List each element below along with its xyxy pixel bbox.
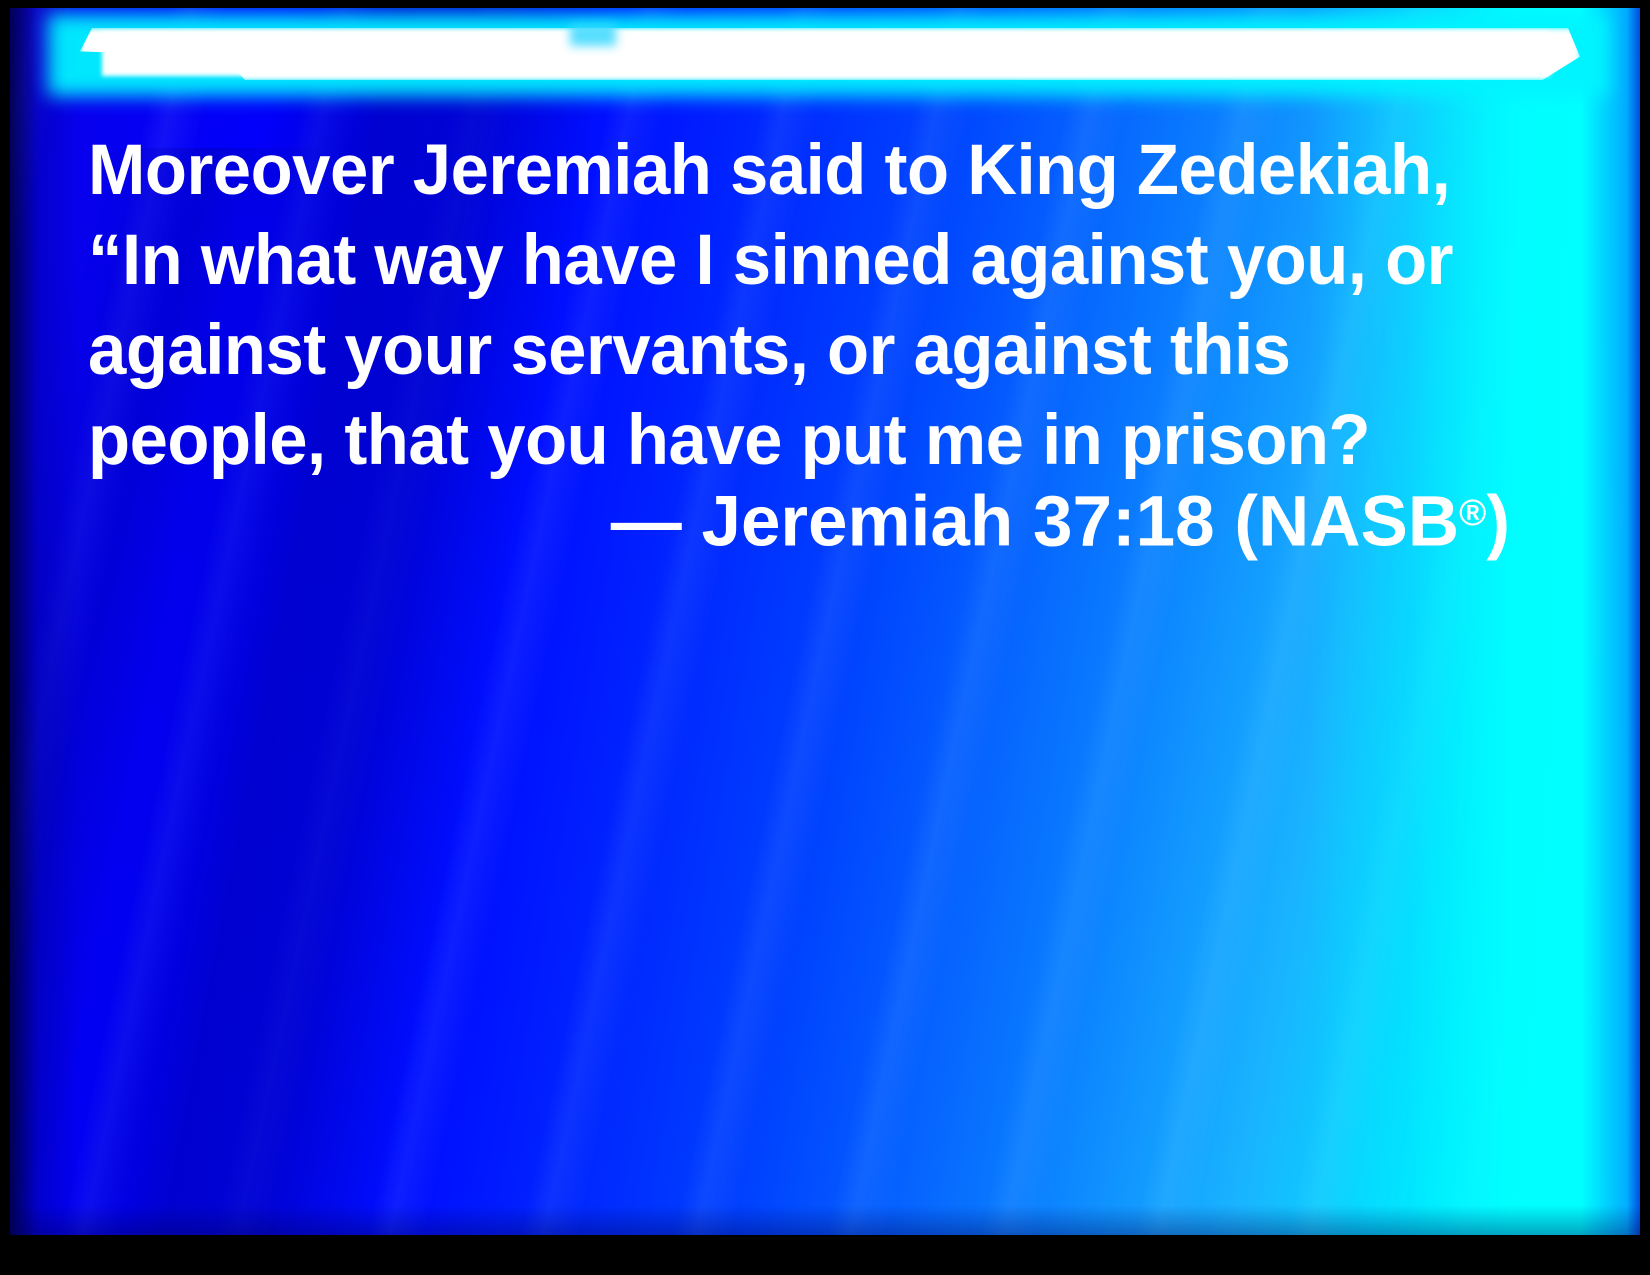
attribution-reference: Jeremiah 37:18 [701,482,1214,561]
verse-line-3: against your servants, or against this [88,306,1465,396]
top-banner-notch [570,24,616,46]
registered-trademark-icon: ® [1459,492,1486,533]
top-banner-white-core [102,32,1550,76]
background-left-edge-shade [10,8,80,1235]
verse-line-1: Moreover Jeremiah said to King Zedekiah, [88,126,1465,216]
slide-panel: Moreover Jeremiah said to King Zedekiah,… [10,8,1640,1235]
slide-canvas: Moreover Jeremiah said to King Zedekiah,… [0,0,1650,1275]
verse-attribution: — Jeremiah 37:18 (NASB®) [88,468,1510,567]
verse-line-2: “In what way have I sinned against you, … [88,216,1465,306]
attribution-translation-close: ) [1486,482,1510,561]
background-bottom-edge-shade [10,1205,1640,1235]
verse-text-block: Moreover Jeremiah said to King Zedekiah,… [88,126,1508,486]
attribution-dash: — [611,482,682,561]
attribution-translation-open: (NASB [1234,482,1459,561]
